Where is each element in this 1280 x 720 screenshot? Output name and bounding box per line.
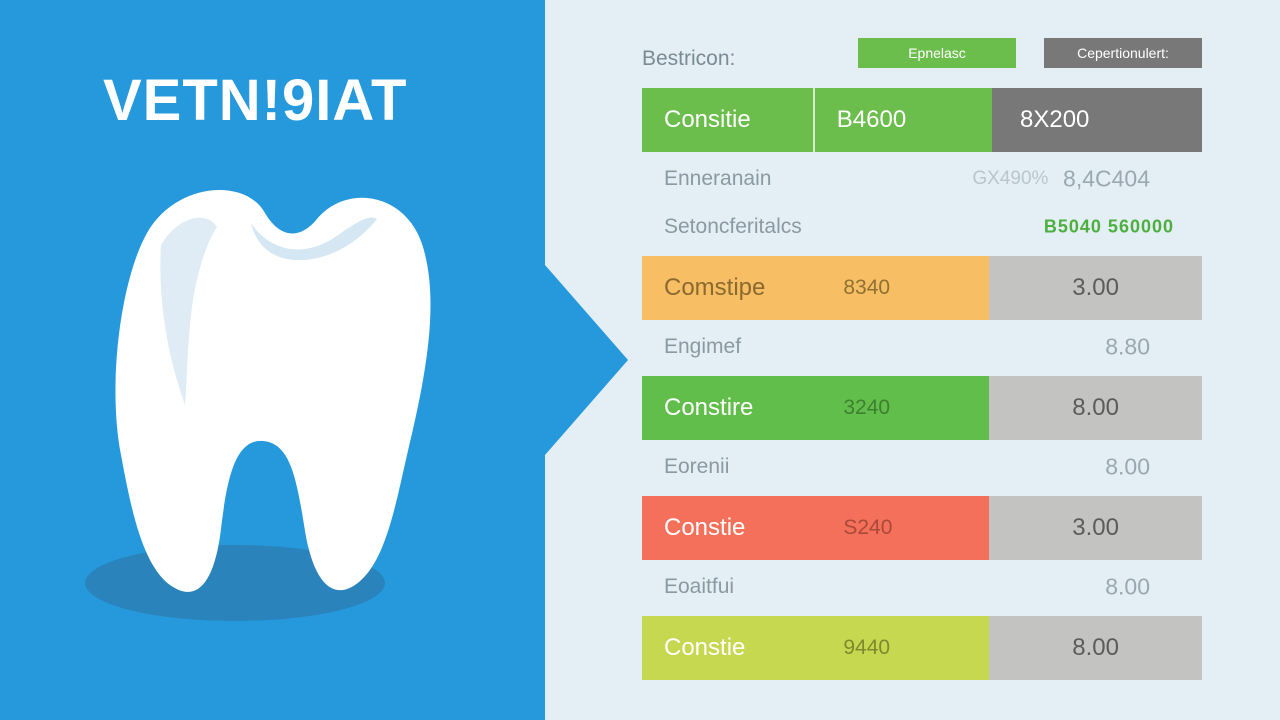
- bar-tail: 8.00: [989, 376, 1202, 440]
- legend-badge-epnelasc[interactable]: Epnelasc: [858, 38, 1016, 68]
- bar-value: 8340: [843, 276, 890, 300]
- table-row: Setoncferitalcs B5040 560000: [642, 206, 1202, 248]
- bar-value: S240: [843, 516, 892, 540]
- row-tail-value: 8.80: [1105, 334, 1150, 361]
- table-row[interactable]: Constire 3240 8.00: [642, 376, 1202, 440]
- legend-badge-cepertionulert[interactable]: Cepertionulert:: [1044, 38, 1202, 68]
- bar-tail: 3.00: [989, 256, 1202, 320]
- row-tail-value-accent: B5040 560000: [1044, 217, 1174, 238]
- header-cell-tail: 8X200: [992, 88, 1202, 152]
- row-label: Enneranain: [664, 167, 771, 191]
- bar-label: Constie: [664, 514, 745, 542]
- row-label: Eorenii: [664, 455, 729, 479]
- bar-fill-constie-lime: Constie 9440: [642, 616, 989, 680]
- table-row: Eoaitfui 8.00: [642, 566, 1202, 608]
- legend-badge-group: Epnelasc Cepertionulert:: [858, 38, 1202, 68]
- row-label: Eoaitfui: [664, 575, 734, 599]
- bar-label: Constire: [664, 394, 753, 422]
- bar-label: Constie: [664, 634, 745, 662]
- chart-legend: Bestricon: Epnelasc Cepertionulert:: [642, 38, 1202, 80]
- page-title: VETN!9IAT: [103, 72, 407, 130]
- bar-tail-value: 3.00: [1072, 274, 1119, 302]
- bar-fill-comstipe: Comstipe 8340: [642, 256, 989, 320]
- header-cell-value: B4600: [813, 88, 992, 152]
- bar-fill-constie-salmon: Constie S240: [642, 496, 989, 560]
- bar-tail-value: 8.00: [1072, 634, 1119, 662]
- bar-value: 3240: [843, 396, 890, 420]
- bar-value: 9440: [843, 636, 890, 660]
- bar-tail: 3.00: [989, 496, 1202, 560]
- row-label: Setoncferitalcs: [664, 215, 802, 239]
- row-tail-value: 8.00: [1105, 574, 1150, 601]
- table-row[interactable]: Comstipe 8340 3.00: [642, 256, 1202, 320]
- table-row: Engimef 8.80: [642, 326, 1202, 368]
- bar-tail: 8.00: [989, 616, 1202, 680]
- table-row[interactable]: Constie S240 3.00: [642, 496, 1202, 560]
- row-value: GX490%: [972, 168, 1048, 190]
- table-row[interactable]: Constie 9440 8.00: [642, 616, 1202, 680]
- header-cell-name: Consitie: [642, 88, 813, 152]
- bar-tail-value: 3.00: [1072, 514, 1119, 542]
- row-tail-value: 8,4C404: [1063, 166, 1150, 193]
- header-bar: Consitie B4600 8X200: [642, 88, 1202, 152]
- row-label: Engimef: [664, 335, 741, 359]
- bar-tail-value: 8.00: [1072, 394, 1119, 422]
- table-row[interactable]: Consitie B4600 8X200: [642, 88, 1202, 152]
- table-row: Eorenii 8.00: [642, 446, 1202, 488]
- data-panel: Bestricon: Epnelasc Cepertionulert: Cons…: [628, 0, 1280, 720]
- tooth-icon: [55, 175, 465, 645]
- bar-label: Comstipe: [664, 274, 765, 302]
- bar-fill-constire: Constire 3240: [642, 376, 989, 440]
- table-row: Enneranain GX490% 8,4C404: [642, 158, 1202, 200]
- bar-chart: Bestricon: Epnelasc Cepertionulert: Cons…: [642, 38, 1202, 680]
- poster-canvas: VETN!9IAT Bestricon: Epnelasc Cepertionu…: [0, 0, 1280, 720]
- legend-title: Bestricon:: [642, 47, 735, 71]
- tooth-illustration: [55, 175, 465, 645]
- row-tail-value: 8.00: [1105, 454, 1150, 481]
